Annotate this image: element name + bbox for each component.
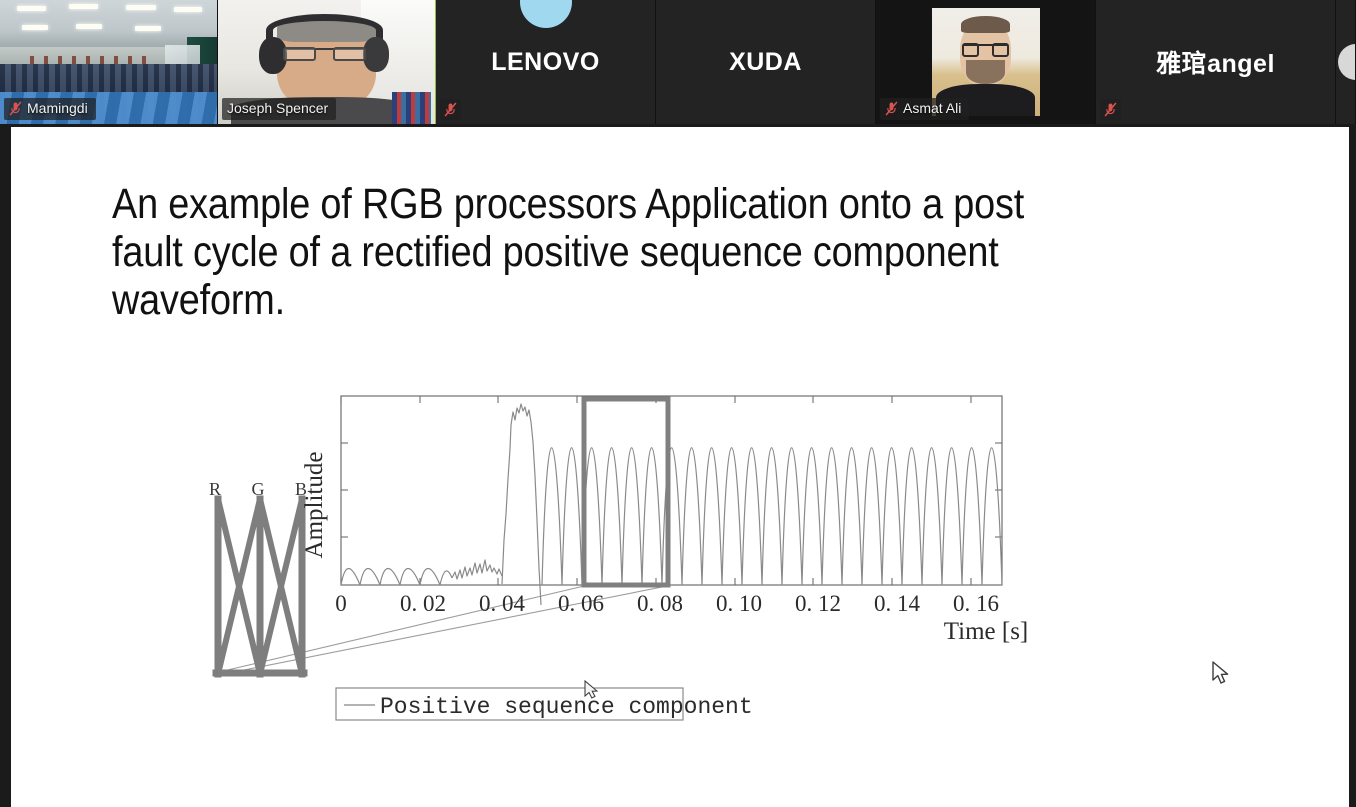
rgb-label-g: G — [252, 479, 265, 499]
participant-name-label: Asmat Ali — [903, 100, 961, 117]
participant-name-badge: Asmat Ali — [880, 98, 969, 120]
participant-mute-indicator — [440, 99, 461, 120]
participant-display-name: 雅琯angel — [1096, 0, 1335, 124]
figure-rgb-processor-waveform: R G B — [11, 127, 1349, 807]
participant-mute-indicator — [1100, 99, 1121, 120]
rgb-label-r: R — [209, 479, 221, 499]
participant-tile-xuda[interactable]: XUDA — [656, 0, 876, 124]
chart-y-ticks — [341, 443, 1002, 537]
chart-x-tick-labels: 0 0. 02 0. 04 0. 06 0. 08 0. 10 0. 12 0.… — [335, 591, 999, 616]
microphone-muted-icon — [885, 101, 898, 116]
x-tick-label: 0. 10 — [716, 591, 762, 616]
microphone-muted-icon — [9, 101, 22, 116]
x-tick-label: 0. 14 — [874, 591, 921, 616]
chart-legend-label: Positive sequence component — [380, 694, 753, 720]
participant-tile-lenovo[interactable]: LENOVO — [436, 0, 656, 124]
chart-x-axis-label: Time [s] — [944, 618, 1029, 645]
chart-series-positive-sequence-component — [341, 404, 1002, 605]
chart-x-ticks — [341, 396, 971, 585]
participant-tile-partial[interactable] — [1336, 0, 1356, 124]
participant-name-label: Mamingdi — [27, 100, 88, 117]
x-tick-label: 0. 08 — [637, 591, 683, 616]
rgb-processor-diagram: R G B — [209, 479, 307, 674]
participant-tile-yaqi-angel[interactable]: 雅琯angel — [1096, 0, 1336, 124]
microphone-muted-icon — [444, 102, 457, 117]
participant-avatar-circle — [1338, 44, 1356, 80]
participant-display-name: XUDA — [656, 0, 875, 124]
microphone-muted-icon — [1104, 102, 1117, 117]
participant-tile-mamingdi[interactable]: Mamingdi — [0, 0, 218, 124]
participant-name-label: Joseph Spencer — [227, 100, 328, 117]
shared-slide: An example of RGB processors Application… — [11, 127, 1349, 807]
participant-name-badge: Joseph Spencer — [222, 98, 336, 120]
participant-name-badge: Mamingdi — [4, 98, 96, 120]
x-tick-label: 0. 02 — [400, 591, 446, 616]
x-tick-label: 0. 12 — [795, 591, 841, 616]
chart-y-axis-label: Amplitude — [301, 452, 328, 559]
zoom-meeting-screen: Mamingdi Joseph Spencer — [0, 0, 1356, 807]
x-tick-label: 0. 06 — [558, 591, 604, 616]
x-tick-label: 0. 16 — [953, 591, 999, 616]
x-tick-label: 0. 04 — [479, 591, 526, 616]
x-tick-label: 0 — [335, 591, 347, 616]
participant-tile-asmat-ali[interactable]: Asmat Ali — [876, 0, 1096, 124]
participant-filmstrip: Mamingdi Joseph Spencer — [0, 0, 1356, 124]
participant-display-name: LENOVO — [436, 0, 655, 124]
participant-tile-joseph-spencer[interactable]: Joseph Spencer — [218, 0, 436, 124]
chart-legend: Positive sequence component — [336, 688, 753, 720]
